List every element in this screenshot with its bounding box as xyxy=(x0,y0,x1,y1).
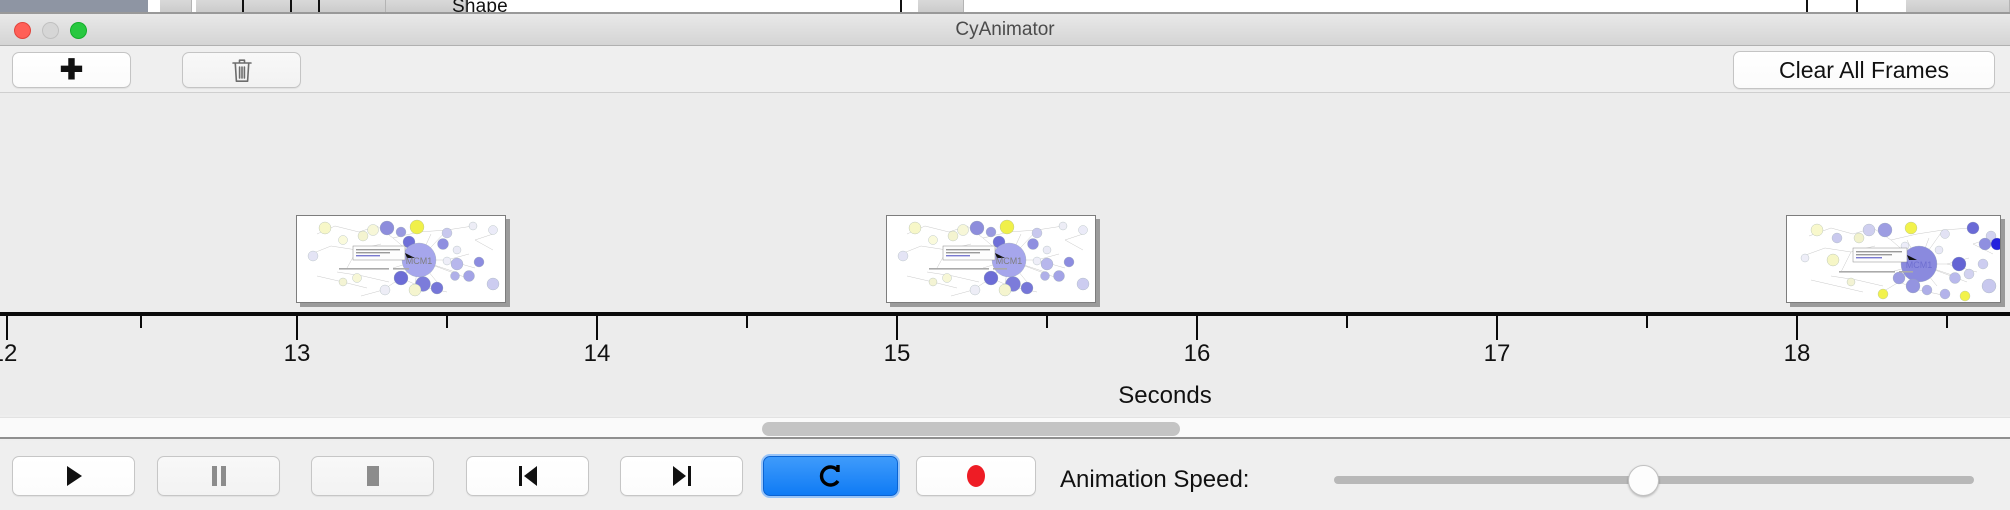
frame-thumbnail-1[interactable]: MCM1 xyxy=(296,215,506,303)
axis-title: Seconds xyxy=(1118,382,1211,410)
frames-toolbar: ✚ Clear All Frames xyxy=(0,46,2010,93)
pause-button[interactable] xyxy=(157,456,280,496)
frame-thumbnail-3[interactable]: MCM1 xyxy=(1786,215,2001,303)
axis-tick-label: 16 xyxy=(1184,340,1211,368)
axis-tick-label: 14 xyxy=(584,340,611,368)
plus-icon: ✚ xyxy=(60,56,83,84)
frame-1-node-label: MCM1 xyxy=(406,256,433,266)
background-app-strip: Shape xyxy=(0,0,2010,14)
axis-tick-label: 15 xyxy=(884,340,911,368)
skip-forward-icon xyxy=(671,465,693,487)
skip-backward-icon xyxy=(517,465,539,487)
stop-icon xyxy=(364,465,382,487)
axis-tick-label: 18 xyxy=(1784,340,1811,368)
skip-forward-button[interactable] xyxy=(620,456,743,496)
axis-tick-label: 13 xyxy=(284,340,311,368)
loop-icon xyxy=(819,463,843,489)
timeline-scrollbar[interactable] xyxy=(0,417,2010,439)
delete-frame-button[interactable] xyxy=(182,52,301,88)
transport-bar: Animation Speed: xyxy=(0,441,2010,510)
timeline-scrollbar-thumb[interactable] xyxy=(762,422,1180,436)
loop-button[interactable] xyxy=(763,456,898,496)
pause-icon xyxy=(210,465,228,487)
network-graph-2: MCM1 xyxy=(887,216,1096,303)
axis-tick-label: 17 xyxy=(1484,340,1511,368)
record-button[interactable] xyxy=(916,456,1036,496)
stop-button[interactable] xyxy=(311,456,434,496)
timeline-axis xyxy=(0,312,2010,316)
skip-backward-button[interactable] xyxy=(466,456,589,496)
window-title: CyAnimator xyxy=(0,14,2010,46)
animation-speed-slider-thumb[interactable] xyxy=(1628,465,1659,496)
axis-tick-label: 12 xyxy=(0,340,17,368)
cyanimator-window: Shape CyAnimator ✚ Clear All Frames xyxy=(0,0,2010,510)
play-button[interactable] xyxy=(12,456,135,496)
title-bar: CyAnimator xyxy=(0,14,2010,46)
frame-2-node-label: MCM1 xyxy=(996,256,1023,266)
network-graph-3: MCM1 xyxy=(1787,216,2001,303)
animation-speed-label: Animation Speed: xyxy=(1060,466,1249,494)
frame-thumbnail-2[interactable]: MCM1 xyxy=(886,215,1096,303)
network-graph-1: MCM1 xyxy=(297,216,506,303)
add-frame-button[interactable]: ✚ xyxy=(12,52,131,88)
record-icon xyxy=(964,463,988,489)
clear-all-frames-button[interactable]: Clear All Frames xyxy=(1733,51,1995,89)
frame-3-node-label: MCM1 xyxy=(1906,260,1933,270)
trash-icon xyxy=(231,57,253,83)
play-icon xyxy=(64,464,84,488)
